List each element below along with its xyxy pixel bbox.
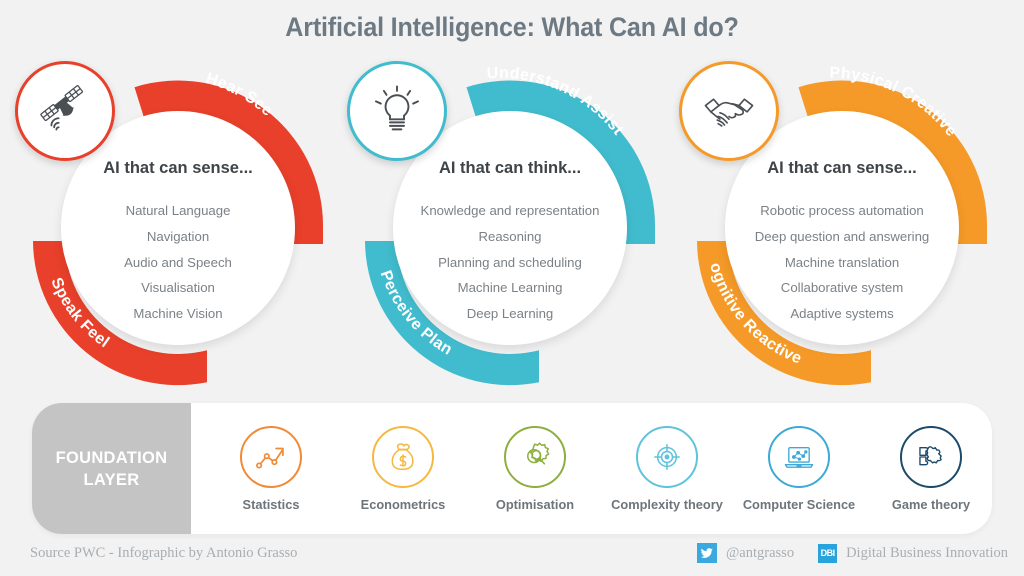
foundation-icon-ring xyxy=(636,426,698,488)
foundation-icon-ring xyxy=(504,426,566,488)
footer-source: Source PWC - Infographic by Antonio Gras… xyxy=(30,545,297,562)
foundation-item-label: Game theory xyxy=(892,497,970,512)
foundation-item-game-theory[interactable]: Game theory xyxy=(865,426,992,512)
foundation-label-line1: FOUNDATION xyxy=(56,449,168,467)
target-icon xyxy=(650,440,684,474)
handshake-icon xyxy=(700,82,758,140)
foundation-item-econometrics[interactable]: Econometrics xyxy=(337,426,469,512)
badge-think[interactable] xyxy=(347,61,447,161)
money-bag-icon xyxy=(386,440,420,474)
list-item: Audio and Speech xyxy=(26,250,330,276)
foundation-item-label: Statistics xyxy=(243,497,300,512)
foundation-label: FOUNDATION LAYER xyxy=(32,403,191,534)
pillar-act: Physical Creative Cognitive Reactive xyxy=(672,58,1012,398)
trend-chart-icon xyxy=(254,440,288,474)
foundation-item-statistics[interactable]: Statistics xyxy=(205,426,337,512)
list-item: Collaborative system xyxy=(690,275,994,301)
twitter-bird-icon xyxy=(697,543,717,563)
dbi-logo-icon: DBI xyxy=(818,544,837,563)
foundation-item-label: Complexity theory xyxy=(611,497,723,512)
twitter-credit[interactable]: @antgrasso xyxy=(697,543,794,563)
foundation-item-label: Econometrics xyxy=(361,497,446,512)
pillar-heading-think: AI that can think... xyxy=(383,159,637,178)
foundation-icon-ring xyxy=(768,426,830,488)
list-item: Deep Learning xyxy=(358,301,662,327)
list-item: Machine Vision xyxy=(26,301,330,327)
pillar-sense: Hear See Speak Feel xyxy=(8,58,348,398)
footer-credits: @antgrasso DBI Digital Business Innovati… xyxy=(697,543,1008,563)
gear-search-icon xyxy=(518,440,552,474)
list-item: Machine Learning xyxy=(358,275,662,301)
foundation-item-computer-science[interactable]: Computer Science xyxy=(733,426,865,512)
list-item: Planning and scheduling xyxy=(358,250,662,276)
list-item: Reasoning xyxy=(358,224,662,250)
foundation-layer: FOUNDATION LAYER S xyxy=(32,403,992,534)
list-item: Natural Language xyxy=(26,198,330,224)
infographic-canvas: Artificial Intelligence: What Can AI do?… xyxy=(0,0,1024,576)
twitter-handle: @antgrasso xyxy=(726,545,794,562)
list-item: Knowledge and representation xyxy=(358,198,662,224)
foundation-icon-ring xyxy=(240,426,302,488)
foundation-item-label: Optimisation xyxy=(496,497,574,512)
laptop-network-icon xyxy=(782,440,816,474)
pillar-think: Understand Assist Perceive Plan xyxy=(340,58,680,398)
brand-credit[interactable]: DBI Digital Business Innovation xyxy=(818,544,1008,563)
list-item: Robotic process automation xyxy=(690,198,994,224)
foundation-icon-ring xyxy=(372,426,434,488)
foundation-item-complexity-theory[interactable]: Complexity theory xyxy=(601,426,733,512)
pillar-heading-act: AI that can sense... xyxy=(715,159,969,178)
list-item: Machine translation xyxy=(690,250,994,276)
page-title: Artificial Intelligence: What Can AI do? xyxy=(36,12,988,43)
pillar-items-act: Robotic process automation Deep question… xyxy=(690,198,994,327)
list-item: Deep question and answering xyxy=(690,224,994,250)
lightbulb-icon xyxy=(369,83,425,139)
pillar-items-sense: Natural Language Navigation Audio and Sp… xyxy=(26,198,330,327)
pillar-heading-sense: AI that can sense... xyxy=(51,159,305,178)
list-item: Visualisation xyxy=(26,275,330,301)
puzzle-icon xyxy=(914,440,948,474)
list-item: Navigation xyxy=(26,224,330,250)
satellite-icon xyxy=(36,82,94,140)
foundation-item-label: Computer Science xyxy=(743,497,855,512)
brand-name: Digital Business Innovation xyxy=(846,545,1008,562)
pillar-items-think: Knowledge and representation Reasoning P… xyxy=(358,198,662,327)
foundation-item-optimisation[interactable]: Optimisation xyxy=(469,426,601,512)
badge-act[interactable] xyxy=(679,61,779,161)
badge-sense[interactable] xyxy=(15,61,115,161)
foundation-label-line2: LAYER xyxy=(84,471,140,489)
foundation-icon-ring xyxy=(900,426,962,488)
list-item: Adaptive systems xyxy=(690,301,994,327)
foundation-items: Statistics Econometrics xyxy=(191,403,992,534)
